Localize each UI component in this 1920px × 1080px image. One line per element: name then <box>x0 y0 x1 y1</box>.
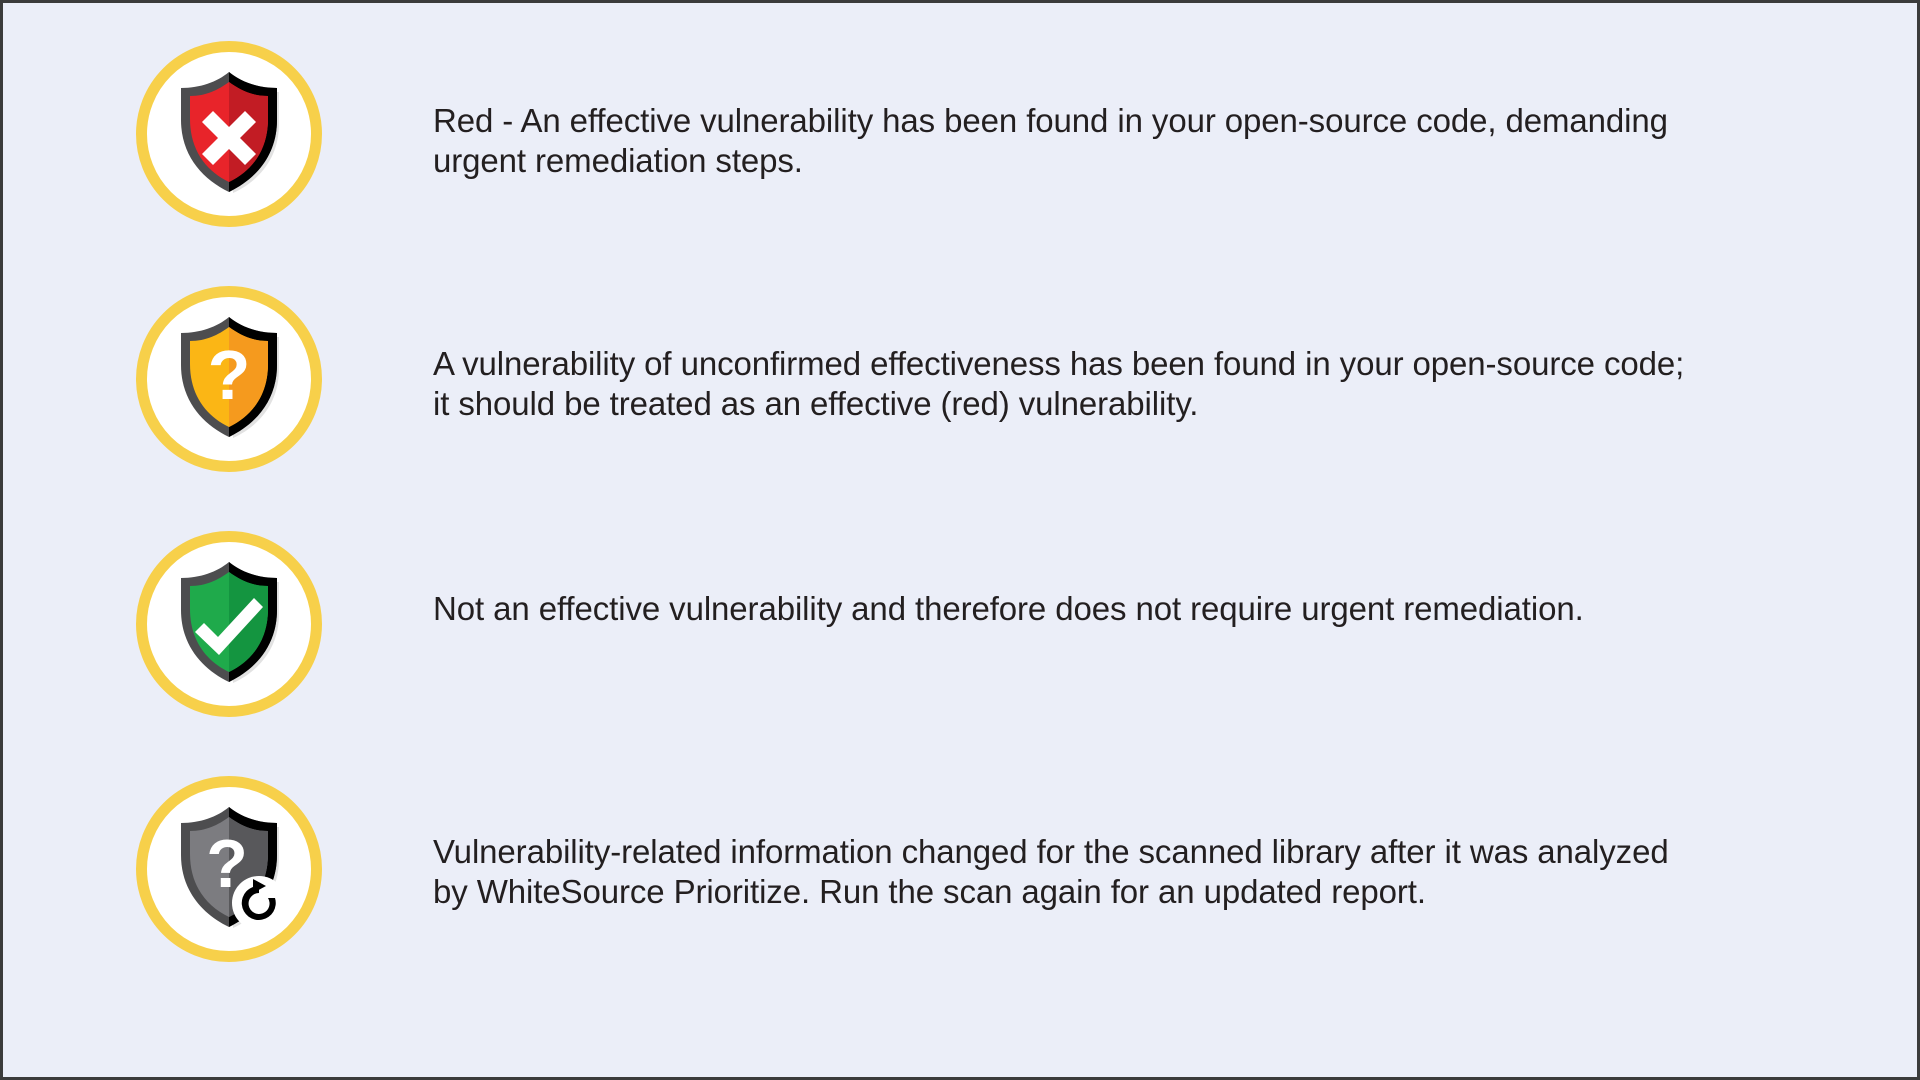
status-badge-outdated: ? <box>136 776 322 962</box>
list-item: Red - An effective vulnerability has bee… <box>3 41 1917 286</box>
grey-shield-question-refresh-icon: ? <box>173 807 285 931</box>
red-shield-x-icon <box>173 72 285 196</box>
orange-shield-question-icon: ? <box>173 317 285 441</box>
legend-description: A vulnerability of unconfirmed effective… <box>322 286 1703 425</box>
legend-list: Red - An effective vulnerability has bee… <box>3 3 1917 1021</box>
refresh-icon <box>232 876 286 930</box>
legend-description: Vulnerability-related information change… <box>322 776 1703 913</box>
green-shield-check-icon <box>173 562 285 686</box>
status-badge-unconfirmed: ? <box>136 286 322 472</box>
list-item: ? Vulnerability-related information chan… <box>3 776 1917 1021</box>
status-badge-effective <box>136 41 322 227</box>
legend-description: Not an effective vulnerability and there… <box>322 531 1703 629</box>
legend-canvas: Red - An effective vulnerability has bee… <box>0 0 1920 1080</box>
legend-description: Red - An effective vulnerability has bee… <box>322 41 1703 182</box>
list-item: Not an effective vulnerability and there… <box>3 531 1917 776</box>
svg-text:?: ? <box>208 336 251 414</box>
status-badge-not-effective <box>136 531 322 717</box>
list-item: ? A vulnerability of unconfirmed effecti… <box>3 286 1917 531</box>
